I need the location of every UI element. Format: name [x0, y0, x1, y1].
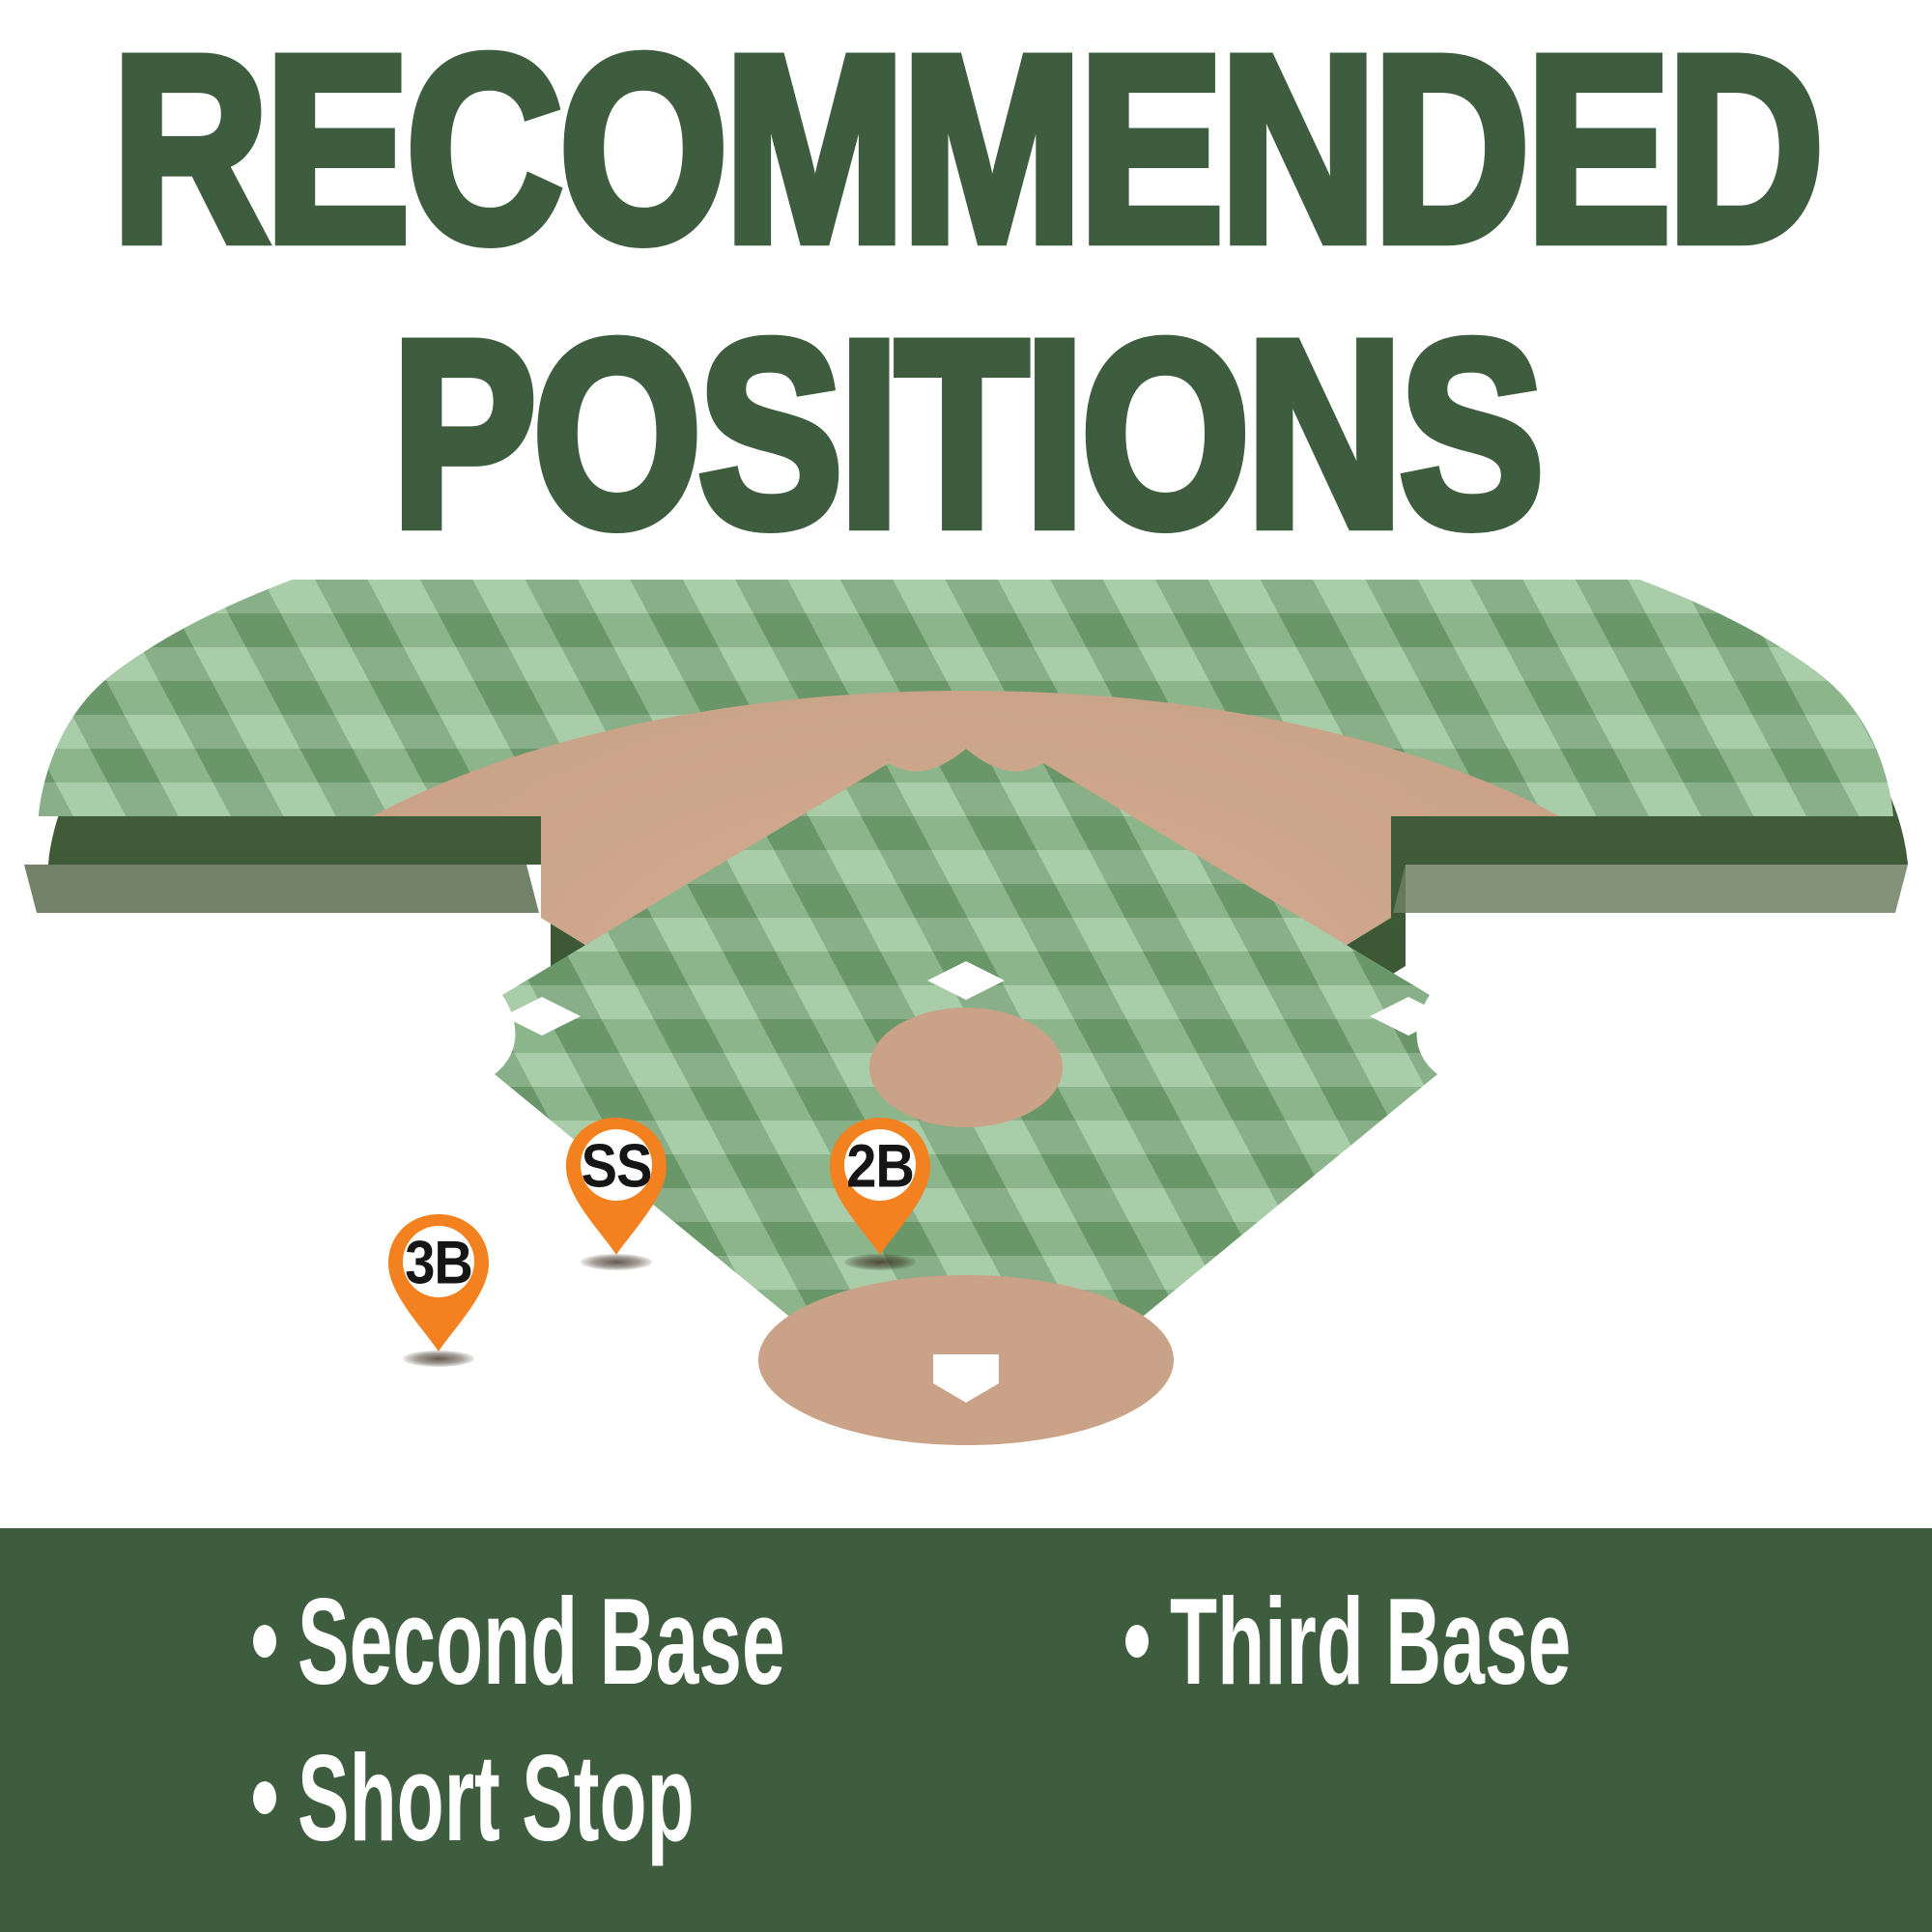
legend-item-third-base: Third Base — [1125, 1594, 1659, 1689]
legend-label: Third Base — [1170, 1579, 1571, 1702]
legend-label: Second Base — [298, 1579, 785, 1702]
second-base-marker[interactable]: 2B — [826, 1116, 934, 1263]
map-pin-icon — [384, 1212, 493, 1353]
page-title-line-1: RECOMMENDED — [112, 27, 1821, 271]
positions-legend-bar: Second Base Third Base Short Stop — [0, 1528, 1932, 1932]
baseball-field-diagram: 3B SS 2B — [0, 580, 1932, 1536]
bullet-icon — [1125, 1625, 1149, 1658]
page-title-line-2: POSITIONS — [391, 312, 1540, 556]
bullet-icon — [253, 1625, 276, 1658]
bullet-icon — [253, 1781, 276, 1814]
shortstop-marker[interactable]: SS — [562, 1116, 670, 1263]
map-pin-icon — [826, 1116, 934, 1257]
pitchers-mound — [869, 1008, 1063, 1127]
page-title-block: RECOMMENDED POSITIONS — [0, 0, 1932, 560]
field-illustration — [0, 580, 1932, 1536]
map-pin-icon — [562, 1116, 670, 1257]
third-base-marker[interactable]: 3B — [384, 1212, 493, 1359]
legend-item-short-stop: Short Stop — [253, 1750, 781, 1845]
legend-label: Short Stop — [298, 1736, 695, 1859]
legend-item-second-base: Second Base — [253, 1594, 892, 1689]
